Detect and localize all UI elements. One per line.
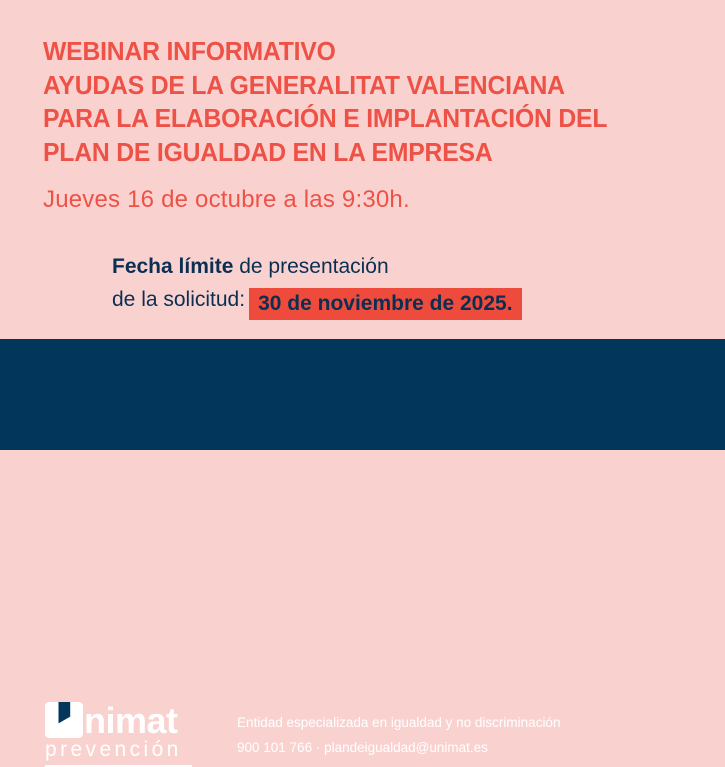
unimat-u-mark-icon bbox=[45, 702, 83, 738]
headline-line-2: AYUDAS DE LA GENERALITAT VALENCIANA bbox=[43, 74, 607, 108]
deadline-block: Fecha límite de presentación de la solic… bbox=[112, 250, 522, 316]
deadline-date-highlight: 30 de noviembre de 2025. bbox=[249, 288, 521, 320]
deadline-line-1: Fecha límite de presentación bbox=[112, 250, 522, 283]
unimat-logo: nimat prevención bbox=[45, 700, 192, 767]
logo-wordmark: nimat bbox=[84, 704, 178, 738]
poster-headline: WEBINAR INFORMATIVO AYUDAS DE LA GENERAL… bbox=[43, 40, 625, 174]
poster-footer: nimat prevención Entidad especializada e… bbox=[0, 339, 725, 450]
poster-main-section: WEBINAR INFORMATIVO AYUDAS DE LA GENERAL… bbox=[0, 0, 725, 339]
headline-line-3: PARA LA ELABORACIÓN E IMPLANTACIÓN DEL bbox=[43, 107, 607, 141]
footer-contact: 900 101 766 · plandeigualdad@unimat.es bbox=[237, 735, 560, 760]
footer-contact-block: Entidad especializada en igualdad y no d… bbox=[237, 710, 560, 760]
deadline-label-strong: Fecha límite bbox=[112, 255, 233, 278]
footer-description: Entidad especializada en igualdad y no d… bbox=[237, 710, 560, 735]
headline-line-1: WEBINAR INFORMATIVO bbox=[43, 40, 607, 74]
event-datetime: Jueves 16 de octubre a las 9:30h. bbox=[43, 186, 410, 214]
logo-tagline: prevención bbox=[45, 739, 192, 761]
webinar-poster: WEBINAR INFORMATIVO AYUDAS DE LA GENERAL… bbox=[0, 0, 725, 450]
headline-line-4: PLAN DE IGUALDAD EN LA EMPRESA bbox=[43, 141, 607, 175]
deadline-label-rest: de presentación bbox=[233, 255, 388, 278]
logo-top-row: nimat bbox=[45, 700, 192, 738]
deadline-line-2: de la solicitud:30 de noviembre de 2025. bbox=[112, 283, 522, 316]
deadline-line2-prefix: de la solicitud: bbox=[112, 288, 245, 311]
